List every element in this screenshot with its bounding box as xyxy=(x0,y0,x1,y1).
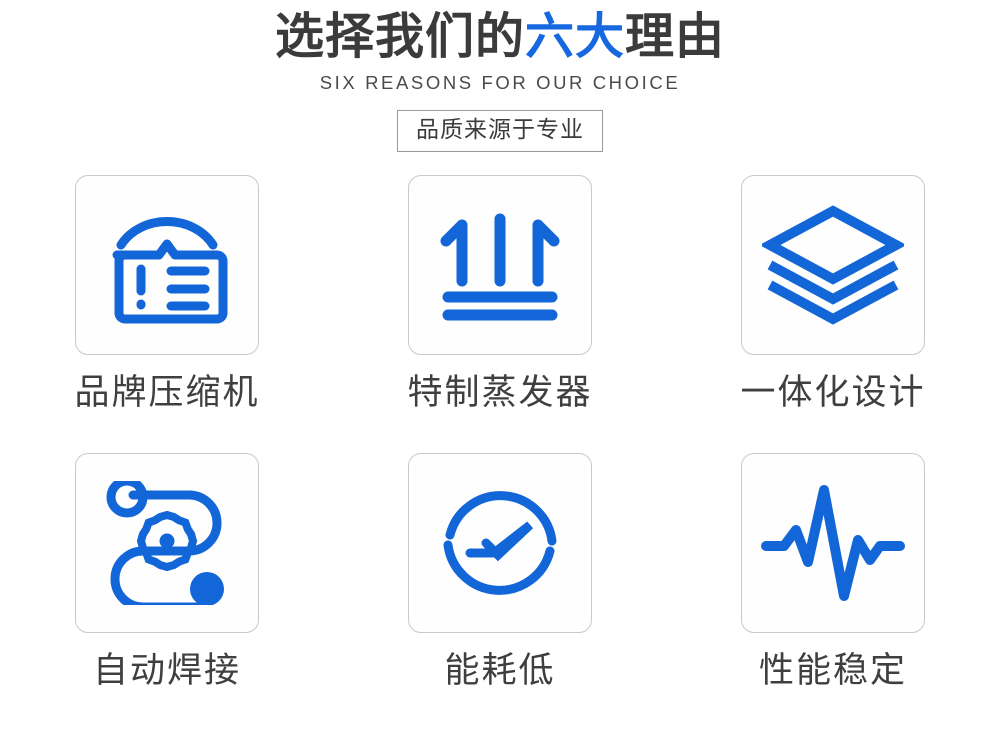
feature-icon-card[interactable] xyxy=(75,175,259,355)
feature-label: 能耗低 xyxy=(444,651,555,691)
feature-label: 自动焊接 xyxy=(93,651,241,691)
feature-item[interactable]: 能耗低 xyxy=(334,453,667,731)
page-title: 选择我们的六大理由 xyxy=(0,12,1000,63)
feature-item[interactable]: 特制蒸发器 xyxy=(334,175,667,453)
feature-icon-card[interactable] xyxy=(75,453,259,633)
feature-item[interactable]: 一体化设计 xyxy=(667,175,1000,453)
feature-label: 品牌压缩机 xyxy=(74,373,259,413)
feature-item[interactable]: 品牌压缩机 xyxy=(1,175,334,453)
badge-container: 品质来源于专业 xyxy=(0,110,1000,152)
feature-icon-card[interactable] xyxy=(741,175,925,355)
low-energy-icon xyxy=(434,477,566,609)
integrated-design-icon xyxy=(762,203,904,327)
automatic-welding-icon xyxy=(97,481,237,605)
page-title-suffix: 理由 xyxy=(625,10,725,64)
feature-grid: 品牌压缩机 特制蒸发器 xyxy=(0,175,1000,731)
feature-icon-card[interactable] xyxy=(408,453,592,633)
feature-item[interactable]: 自动焊接 xyxy=(1,453,334,731)
feature-label: 特制蒸发器 xyxy=(407,373,592,413)
feature-item[interactable]: 性能稳定 xyxy=(667,453,1000,731)
stable-performance-icon xyxy=(758,480,908,606)
feature-icon-card[interactable] xyxy=(741,453,925,633)
page-subtitle: SIX REASONS FOR OUR CHOICE xyxy=(0,72,1000,94)
page-title-highlight: 六大 xyxy=(525,10,625,64)
feature-label: 性能稳定 xyxy=(759,651,907,691)
quality-badge: 品质来源于专业 xyxy=(397,110,603,152)
brand-compressor-icon xyxy=(97,205,237,325)
page-title-prefix: 选择我们的 xyxy=(275,10,525,64)
page-header: 选择我们的六大理由 SIX REASONS FOR OUR CHOICE 品质来… xyxy=(0,0,1000,152)
special-evaporator-icon xyxy=(430,205,570,325)
feature-icon-card[interactable] xyxy=(408,175,592,355)
feature-label: 一体化设计 xyxy=(740,373,925,413)
promo-page: 选择我们的六大理由 SIX REASONS FOR OUR CHOICE 品质来… xyxy=(0,0,1000,718)
